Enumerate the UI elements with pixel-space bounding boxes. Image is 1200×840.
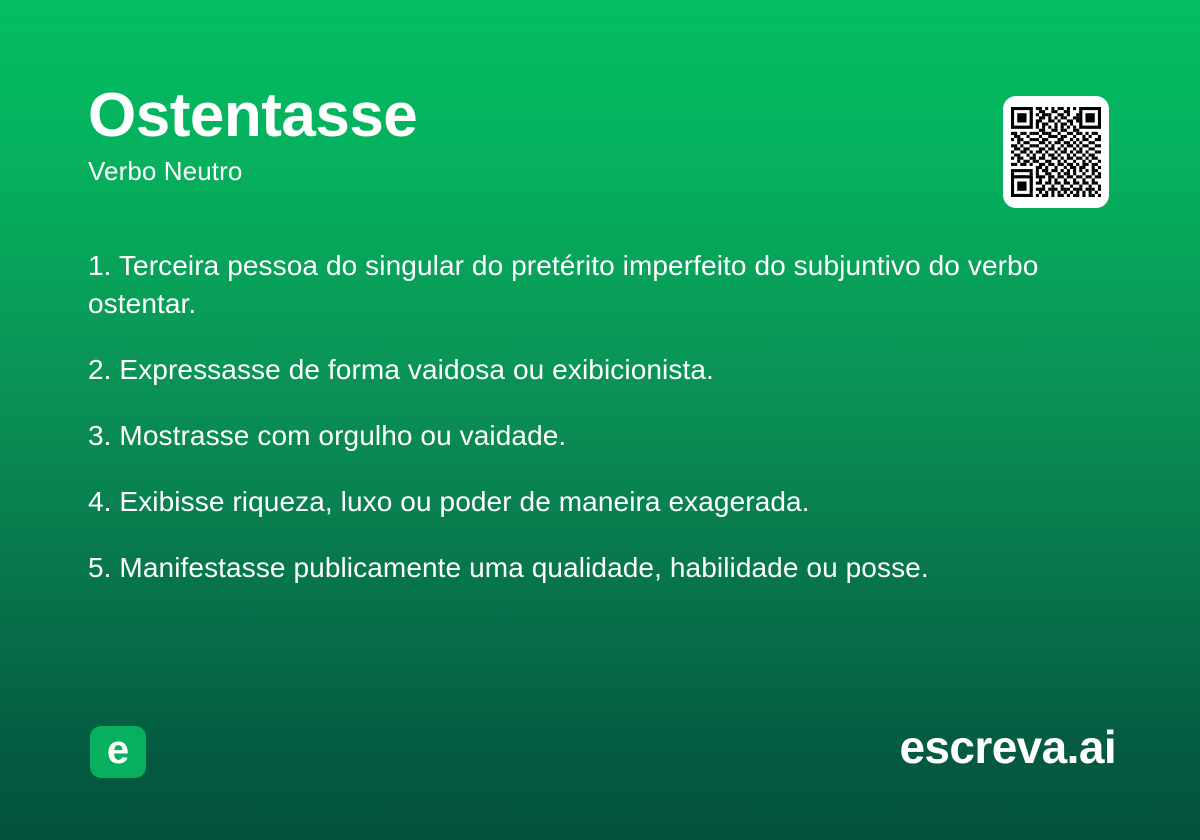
qr-code-icon [1011, 107, 1101, 197]
definition-item: 1. Terceira pessoa do singular do pretér… [88, 247, 1048, 323]
qr-code-panel[interactable] [1003, 96, 1109, 208]
definition-list: 1. Terceira pessoa do singular do pretér… [88, 247, 1048, 587]
definition-item: 5. Manifestasse publicamente uma qualida… [88, 549, 1048, 587]
page-title: Ostentasse [88, 84, 968, 148]
definition-item: 4. Exibisse riqueza, luxo ou poder de ma… [88, 483, 1048, 521]
brand-logo-letter: e [107, 730, 129, 770]
word-class-label: Verbo Neutro [88, 156, 968, 187]
brand-wordmark: escreva.ai [899, 722, 1116, 773]
brand-logo-badge[interactable]: e [90, 726, 146, 778]
definition-item: 2. Expressasse de forma vaidosa ou exibi… [88, 351, 1048, 389]
word-definition-card: Ostentasse Verbo Neutro 1. Terceira pess… [0, 0, 1200, 840]
definition-item: 3. Mostrasse com orgulho ou vaidade. [88, 417, 1048, 455]
card-header: Ostentasse Verbo Neutro [88, 84, 968, 188]
